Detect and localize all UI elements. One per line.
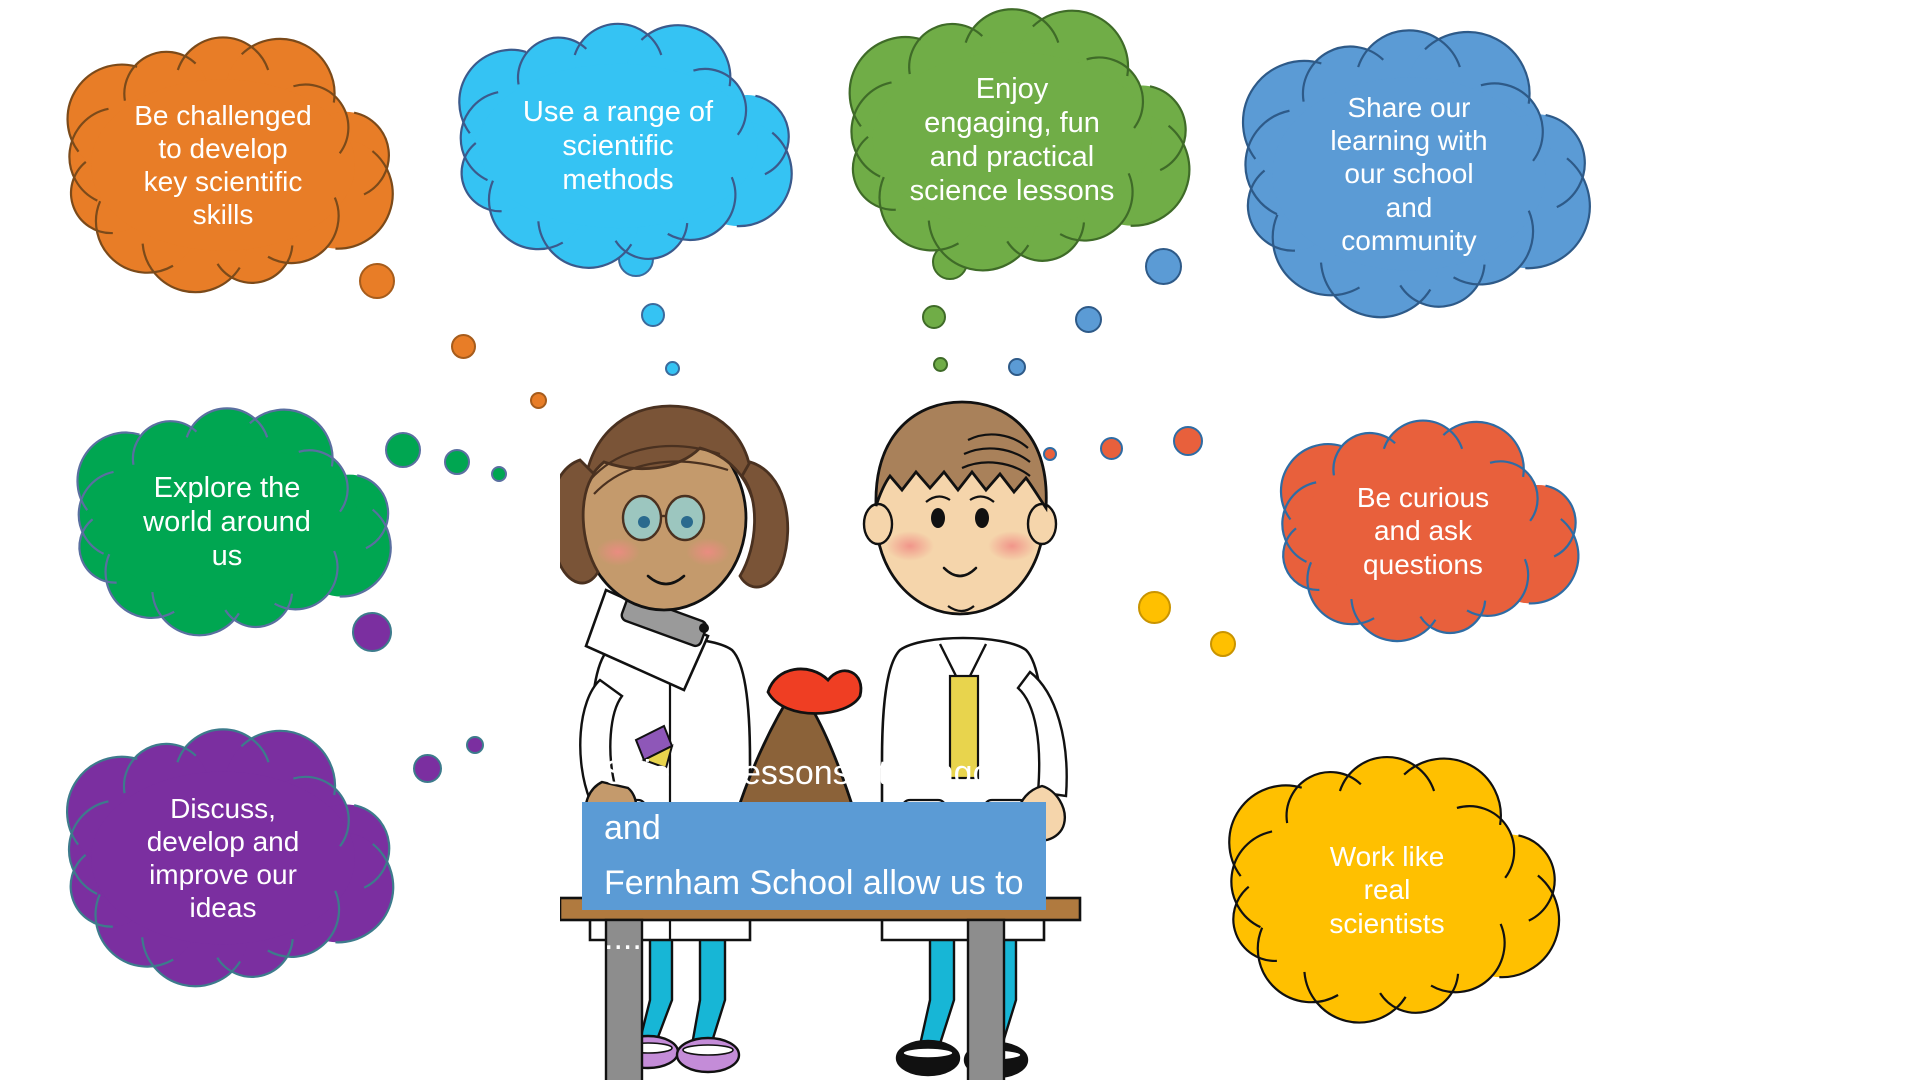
cloud-bubble-be-curious: Be curious and ask questions [1268, 428, 1578, 634]
cloud-shape-discuss-develop [58, 738, 388, 978]
volcano-lava [768, 669, 861, 714]
thought-dot-yellow-trail-0 [1138, 591, 1171, 624]
cloud-bubble-share-our-learning: Share our learning with our school and c… [1238, 40, 1580, 308]
school-banner: Science lessons at Longcot and Fernham S… [582, 802, 1046, 910]
boy-blush-right [988, 531, 1036, 561]
girl-blush-right [686, 538, 730, 566]
boy-shoe-left-stripe [903, 1048, 953, 1058]
cloud-bubble-explore-the-world: Explore the world around us [62, 416, 392, 628]
cloud-shape-be-challenged [58, 46, 388, 284]
thought-dot-green-trail-top-1 [922, 305, 946, 329]
thought-dot-blue-trail-2 [1008, 358, 1026, 376]
thought-dot-blue-trail-1 [1075, 306, 1102, 333]
cloud-shape-enjoy-engaging [838, 18, 1186, 262]
cloud-bubble-discuss-develop: Discuss, develop and improve our ideas [58, 738, 388, 978]
thought-dot-cyan-trail-1 [641, 303, 665, 327]
thought-dot-green-trail-left-1 [444, 449, 470, 475]
boy-eye-left [931, 508, 945, 528]
girl-figure [560, 406, 788, 1072]
boy-eye-right [975, 508, 989, 528]
cloud-shape-explore-the-world [62, 416, 392, 628]
cloud-bubble-enjoy-engaging: Enjoy engaging, fun and practical scienc… [838, 18, 1186, 262]
cloud-bubble-use-a-range: Use a range of scientific methods [444, 32, 792, 260]
cloud-shape-work-like-real-scientists [1222, 766, 1552, 1014]
children-science-illustration [560, 400, 1120, 1080]
thought-dot-orange-trail-2 [530, 392, 547, 409]
cloud-shape-share-our-learning [1238, 40, 1580, 308]
cloud-bubble-work-like-real-scientists: Work like real scientists [1222, 766, 1552, 1014]
thought-dot-green-trail-left-2 [491, 466, 507, 482]
girl-shoe-right-stripe [683, 1045, 733, 1055]
thought-dot-red-trail-0 [1173, 426, 1203, 456]
cloud-shape-use-a-range [444, 32, 792, 260]
cloud-shape-be-curious [1268, 428, 1578, 634]
thought-dot-cyan-trail-2 [665, 361, 680, 376]
boy-ear-left [864, 504, 892, 544]
thought-dot-purple-trail-1 [413, 754, 442, 783]
boy-blush-left [886, 531, 934, 561]
poster-canvas: Be challenged to develop key scientific … [0, 0, 1920, 1080]
thought-dot-green-trail-top-2 [933, 357, 948, 372]
cloud-bubble-be-challenged: Be challenged to develop key scientific … [58, 46, 388, 284]
thought-dot-purple-trail-2 [466, 736, 484, 754]
thought-dot-orange-trail-1 [451, 334, 476, 359]
girl-blush-left [596, 538, 640, 566]
thought-dot-yellow-trail-1 [1210, 631, 1236, 657]
boy-figure [864, 402, 1067, 1077]
